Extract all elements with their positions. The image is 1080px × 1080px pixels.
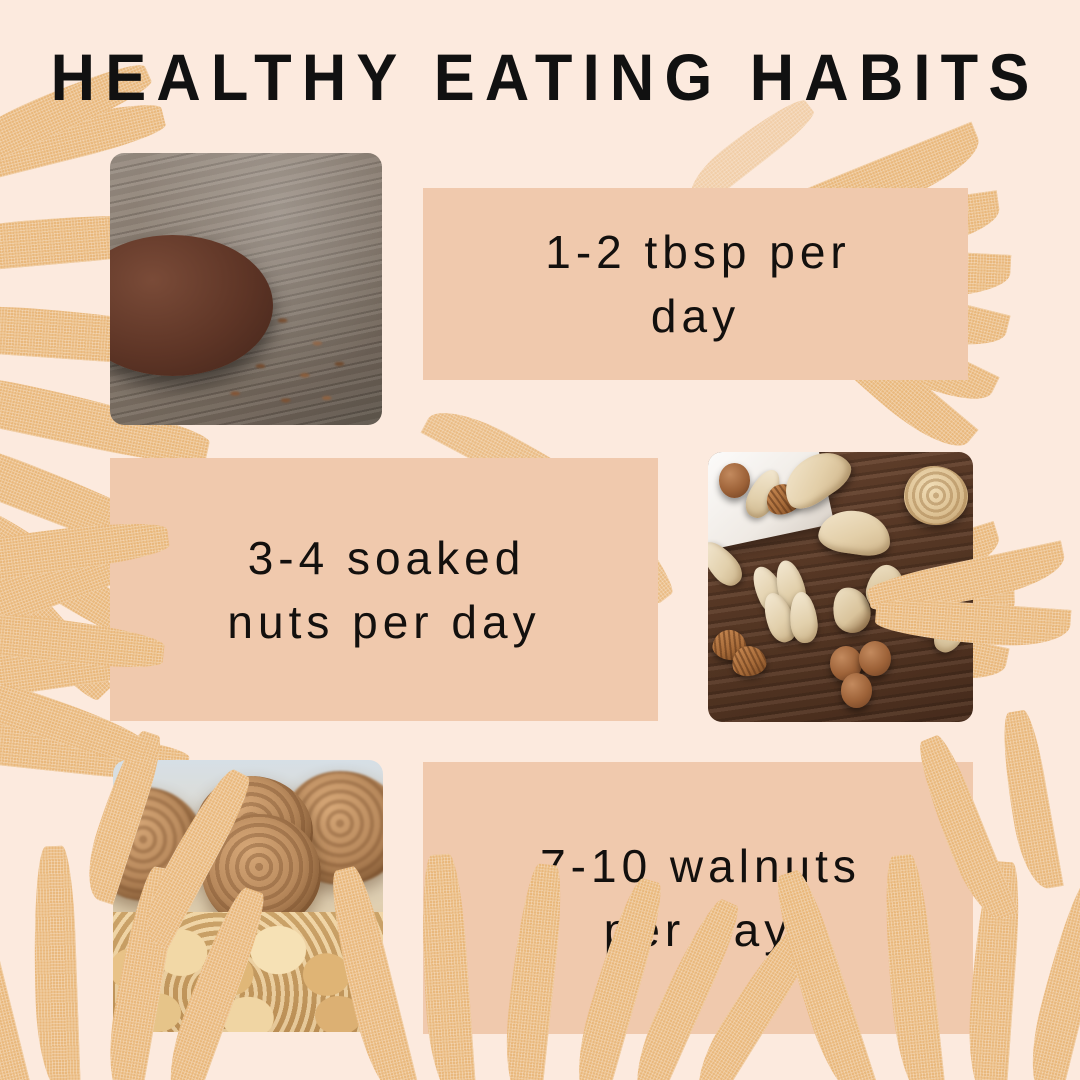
habit-text-flax-seeds: 1-2 tbsp per day <box>540 220 850 348</box>
page-title: HEALTHY EATING HABITS <box>38 38 1042 116</box>
habit-text-soaked-nuts: 3-4 soaked nuts per day <box>227 526 540 654</box>
photo-assorted-nuts <box>708 452 973 722</box>
nut-walnut <box>904 466 968 525</box>
flax-seeds-pile <box>110 246 241 356</box>
leaf-icon <box>0 526 121 706</box>
photo-walnuts <box>113 760 383 1032</box>
habit-card-flax-seeds: 1-2 tbsp per day <box>423 188 968 380</box>
leaf-icon <box>1020 874 1080 1080</box>
nut-hazelnut <box>719 463 751 498</box>
habit-text-walnuts: 7-10 walnuts per day <box>535 834 861 962</box>
leaf-icon <box>0 844 31 1080</box>
leaf-icon <box>30 845 81 1080</box>
habit-card-soaked-nuts: 3-4 soaked nuts per day <box>110 458 658 721</box>
poster-canvas: HEALTHY EATING HABITS 1-2 tbsp per day 3… <box>0 0 1080 1080</box>
leaf-icon <box>995 708 1064 892</box>
nut-hazelnut <box>859 641 891 676</box>
photo-flax-seeds <box>110 153 382 425</box>
habit-card-walnuts: 7-10 walnuts per day <box>423 762 973 1034</box>
walnut-kernels <box>113 912 383 1032</box>
